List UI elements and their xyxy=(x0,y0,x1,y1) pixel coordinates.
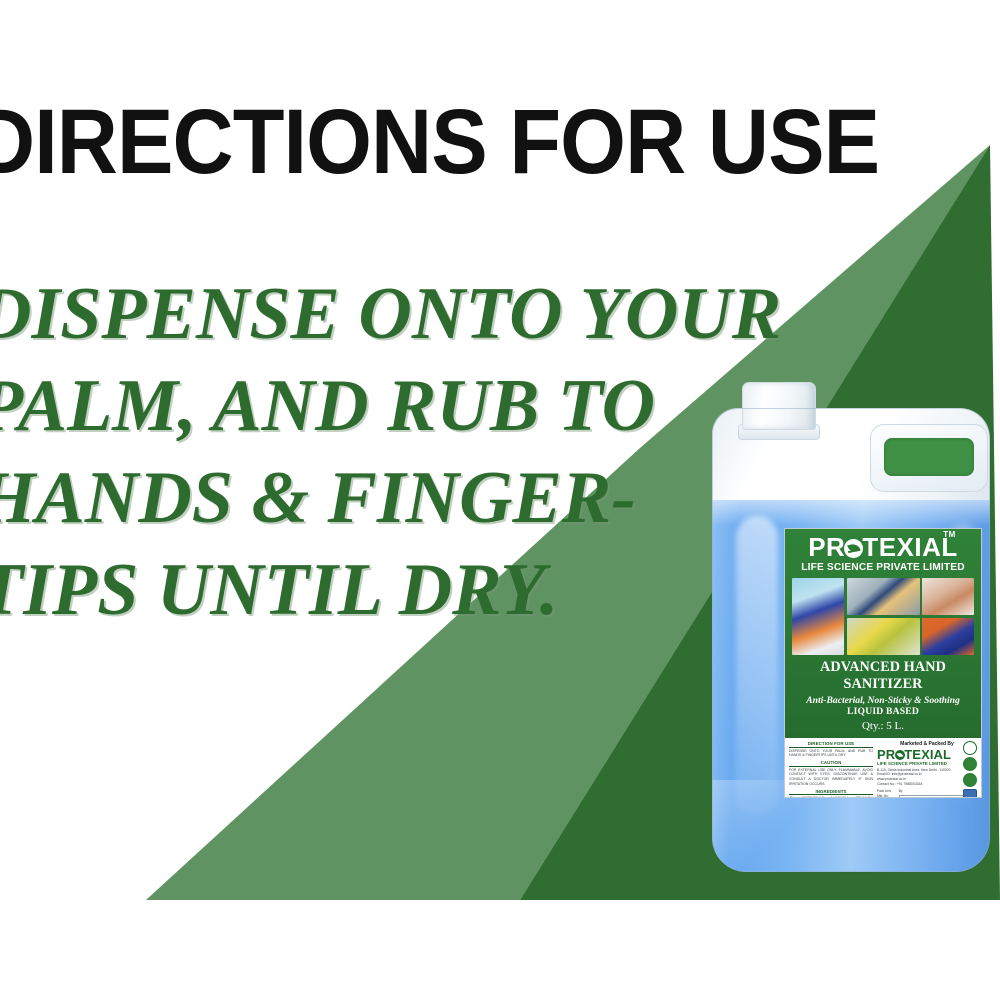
label-green-section: PRTEXIALTM LIFE SCIENCE PRIVATE LIMITED … xyxy=(785,529,981,738)
leaf-logo-icon xyxy=(844,539,863,558)
poster-canvas: DIRECTIONS FOR USE DISPENSE ONTO YOUR PA… xyxy=(0,0,1000,1000)
label-manufacturer-column: Marketed & Packed By PRTEXIAL LIFE SCIEN… xyxy=(877,741,977,798)
label-photo-collage xyxy=(792,578,974,655)
label-usage-column: DIRECTION FOR USE DISPENSE ONTO YOUR PAL… xyxy=(789,741,873,798)
bottle-cap xyxy=(742,382,816,430)
caution-heading: CAUTION xyxy=(789,760,873,767)
page-title: DIRECTIONS FOR USE xyxy=(0,96,857,188)
fssai-icon xyxy=(963,789,977,798)
gmp-cert-icon xyxy=(963,757,977,771)
directions-heading: DIRECTION FOR USE xyxy=(789,741,873,748)
handwashing-photo xyxy=(922,578,974,615)
liquid-highlight-left xyxy=(736,516,778,816)
gloves-cleaning-photo xyxy=(922,618,974,655)
ingredients-body: IPA (ISOPROPYLE ALCOHOL), ETHANOL, HYDRO… xyxy=(789,796,873,798)
marketer-brand-prefix: PR xyxy=(877,747,895,762)
halal-cert-icon xyxy=(963,773,977,787)
label-brand-row: PRTEXIALTM xyxy=(789,534,977,560)
spray-bottle-cleaning-photo xyxy=(792,578,844,655)
product-jerrycan: PRTEXIALTM LIFE SCIENCE PRIVATE LIMITED … xyxy=(712,382,990,872)
cleaning-sink-photo xyxy=(847,578,920,615)
directions-body: DISPENSE ONTO YOUR PALM, AND RUB TO HAND… xyxy=(789,749,873,758)
certification-marks xyxy=(962,741,978,798)
brand-wordmark: PRTEXIALTM xyxy=(808,534,958,560)
product-quantity: Qty.: 5 L. xyxy=(789,720,977,734)
label-white-section: DIRECTION FOR USE DISPENSE ONTO YOUR PAL… xyxy=(785,738,981,798)
product-label: PRTEXIALTM LIFE SCIENCE PRIVATE LIMITED … xyxy=(784,528,982,798)
instruction-line-1: DISPENSE ONTO YOUR xyxy=(0,268,838,360)
brand-prefix: PR xyxy=(808,532,845,562)
batch-field-labels: Pack Unit: Mfg. By: Mfg. Lic. No.: Batch… xyxy=(877,789,896,798)
mopping-photo xyxy=(847,618,920,655)
ingredients-heading: INGREDIENTS xyxy=(789,789,873,796)
brand-subtitle: LIFE SCIENCE PRIVATE LIMITED xyxy=(789,562,977,573)
trademark-icon: TM xyxy=(943,531,956,539)
product-name: ADVANCED HAND SANITIZER xyxy=(789,659,977,693)
product-tagline: Anti-Bacterial, Non-Sticky & Soothing xyxy=(789,695,977,706)
marketer-brand-suffix: TEXIAL xyxy=(904,747,951,762)
leaf-logo-small-icon xyxy=(895,750,905,760)
caution-body: FOR EXTERNAL USE ONLY. FLAMMABLE. AVOID … xyxy=(789,768,873,786)
product-tagline-secondary: LIQUID BASED xyxy=(789,706,977,717)
field-label-mfg-by: Mfg. By: xyxy=(877,794,896,798)
iso-cert-icon xyxy=(963,741,977,755)
bottle-handle-hole xyxy=(884,438,974,476)
